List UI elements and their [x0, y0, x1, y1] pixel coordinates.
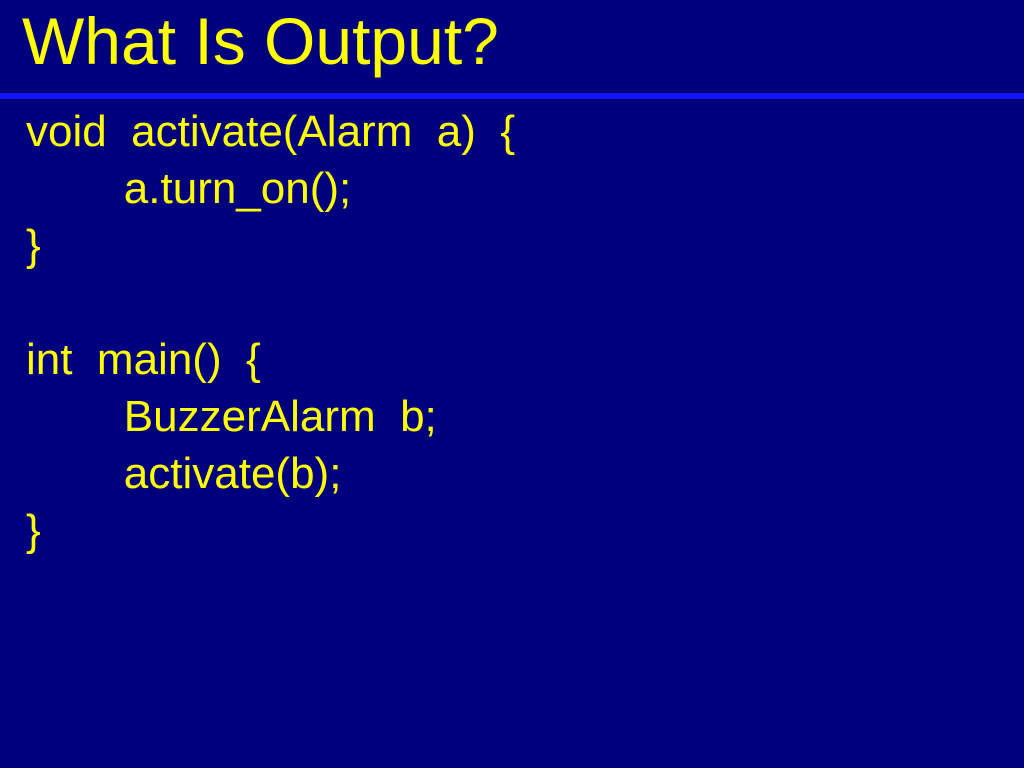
slide-body-area: void activate(Alarm a) { a.turn_on();}in… [0, 99, 1024, 768]
code-line: BuzzerAlarm b; [26, 388, 515, 445]
slide: What Is Output? void activate(Alarm a) {… [0, 0, 1024, 768]
code-line: a.turn_on(); [26, 160, 515, 217]
code-line: } [26, 217, 515, 274]
code-line: activate(b); [26, 445, 515, 502]
code-block: void activate(Alarm a) { a.turn_on();}in… [26, 103, 515, 559]
slide-title-area: What Is Output? [0, 0, 1024, 93]
code-line: } [26, 502, 515, 559]
code-line: int main() { [26, 331, 515, 388]
code-line: void activate(Alarm a) { [26, 103, 515, 160]
code-line-blank [26, 274, 515, 331]
page-title: What Is Output? [22, 0, 499, 84]
